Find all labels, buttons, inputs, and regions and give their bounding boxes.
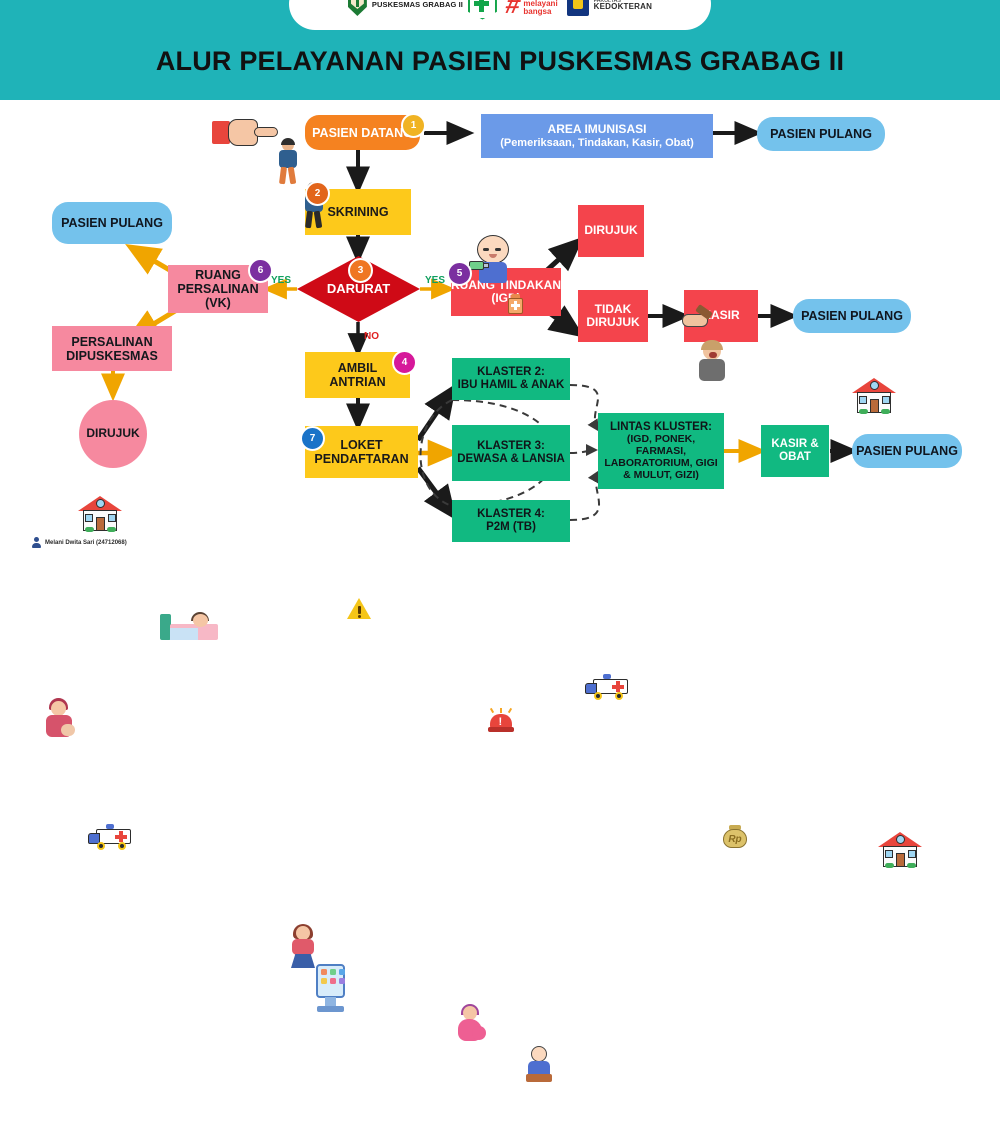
- node-pasien-pulang-akhir[interactable]: PASIEN PULANG: [852, 434, 962, 468]
- bangga-logo-text: bangga melayani bangsa: [523, 0, 557, 17]
- user-icon: [32, 537, 41, 548]
- node-tidak-dirujuk[interactable]: TIDAK DIRUJUK: [578, 290, 648, 342]
- node-persalinan-dipuskesmas-sublabel: DIPUSKESMAS: [66, 349, 158, 363]
- author-credit: Melani Dwita Sari (24712068): [32, 537, 127, 548]
- node-area-imunisasi-label: AREA IMUNISASI: [548, 123, 647, 136]
- child-highchair-icon: [524, 1046, 554, 1084]
- node-dirujuk-igd-label: DIRUJUK: [584, 224, 637, 237]
- node-ruang-tindakan-sublabel: (IGD): [491, 292, 520, 305]
- delivery-bed-icon: [160, 612, 218, 642]
- node-klaster-3-label: KLASTER 3:: [477, 440, 545, 453]
- node-pasien-pulang-kasir[interactable]: PASIEN PULANG: [793, 299, 911, 333]
- emergency-siren-icon: !: [488, 708, 514, 734]
- pregnant-woman-icon: [452, 1006, 488, 1046]
- poster-root: PUSKESMAS GRABAG II # bangga melayani ba…: [0, 0, 1000, 573]
- node-persalinan-dipuskesmas-label: PERSALINAN: [71, 335, 152, 349]
- node-pasien-datang-label: PASIEN DATANG: [312, 126, 413, 140]
- coat-of-arms-icon: [348, 0, 367, 16]
- node-klaster-4[interactable]: KLASTER 4: P2M (TB): [452, 500, 570, 542]
- node-tidak-dirujuk-label: TIDAK: [595, 303, 632, 316]
- node-klaster-2-sublabel: IBU HAMIL & ANAK: [458, 379, 565, 392]
- node-kasir[interactable]: KASIR: [684, 290, 758, 342]
- node-klaster-2-label: KLASTER 2:: [477, 366, 545, 379]
- ambulance-icon-1: [88, 826, 132, 852]
- step-badge-5: 5: [447, 261, 472, 286]
- node-darurat-label: DARURAT: [327, 282, 390, 297]
- node-klaster-4-sublabel: P2M (TB): [486, 521, 536, 534]
- money-bag-icon-1: Rp: [722, 823, 748, 849]
- node-ambil-antrian-label: AMBIL: [338, 361, 378, 375]
- university-crest-icon: [567, 0, 589, 16]
- node-area-imunisasi-sublabel: (Pemeriksaan, Tindakan, Kasir, Obat): [500, 137, 694, 149]
- node-pasien-pulang-vk[interactable]: PASIEN PULANG: [52, 202, 172, 244]
- bangga-melayani-bangsa-logo: # bangga melayani bangsa: [506, 0, 558, 17]
- green-cross-hex-icon: [468, 0, 497, 20]
- fakultas-big-label: KEDOKTERAN: [594, 2, 652, 11]
- node-lintas-kluster-label: LINTAS KLUSTER:: [610, 421, 712, 434]
- node-pasien-pulang-imunisasi[interactable]: PASIEN PULANG: [757, 117, 885, 151]
- node-pasien-pulang-akhir-label: PASIEN PULANG: [856, 444, 958, 458]
- node-pasien-pulang-vk-label: PASIEN PULANG: [61, 216, 163, 230]
- woman-at-kiosk-icon: [288, 926, 318, 970]
- node-klaster-3-sublabel: DEWASA & LANSIA: [457, 453, 565, 466]
- edge-label-yes-right: YES: [425, 275, 445, 286]
- puskesmas-logo-group: PUSKESMAS GRABAG II: [348, 0, 497, 20]
- author-credit-label: Melani Dwita Sari (24712068): [45, 540, 127, 546]
- node-ruang-persalinan-sublabel: PERSALINAN (VK): [168, 282, 268, 310]
- node-lintas-kluster-sublabel: (IGD, PONEK, FARMASI, LABORATORIUM, GIGI…: [602, 433, 720, 481]
- house-icon-3: [878, 832, 922, 868]
- node-dirujuk-igd[interactable]: DIRUJUK: [578, 205, 644, 257]
- node-loket-pendaftaran-label: LOKET: [340, 438, 382, 452]
- node-skrining-label: SKRINING: [327, 205, 388, 219]
- node-dirujuk-vk-label: DIRUJUK: [86, 427, 139, 440]
- flowchart-canvas: PASIEN DATANG 1 AREA IMUNISASI (Pemeriks…: [0, 100, 1000, 573]
- node-klaster-3[interactable]: KLASTER 3: DEWASA & LANSIA: [452, 425, 570, 481]
- bangga-line-3: bangsa: [523, 8, 557, 17]
- step-badge-2: 2: [305, 181, 330, 206]
- node-kasir-obat-sublabel: OBAT: [779, 451, 811, 464]
- node-area-imunisasi[interactable]: AREA IMUNISASI (Pemeriksaan, Tindakan, K…: [481, 114, 713, 158]
- node-persalinan-dipuskesmas[interactable]: PERSALINAN DIPUSKESMAS: [52, 326, 172, 371]
- node-loket-pendaftaran-sublabel: PENDAFTARAN: [314, 452, 408, 466]
- mother-with-baby-icon: [42, 700, 76, 744]
- ambulance-icon-2: [585, 676, 629, 702]
- queue-kiosk-icon: [314, 964, 348, 1012]
- fakultas-kedokteran-logo-group: FAKULTAS KEDOKTERAN: [567, 0, 652, 16]
- puskesmas-logo-label: PUSKESMAS GRABAG II: [372, 0, 463, 9]
- node-klaster-2[interactable]: KLASTER 2: IBU HAMIL & ANAK: [452, 358, 570, 400]
- poster-header: PUSKESMAS GRABAG II # bangga melayani ba…: [0, 0, 1000, 100]
- node-kasir-obat[interactable]: KASIR & OBAT: [761, 425, 829, 477]
- node-kasir-obat-label: KASIR &: [771, 438, 818, 451]
- node-pasien-pulang-kasir-label: PASIEN PULANG: [801, 309, 903, 323]
- node-kasir-label: KASIR: [702, 309, 739, 322]
- warning-triangle-icon: [347, 598, 371, 620]
- hash-icon: #: [503, 0, 523, 17]
- node-dirujuk-vk[interactable]: DIRUJUK: [79, 400, 147, 468]
- page-title: ALUR PELAYANAN PASIEN PUSKESMAS GRABAG I…: [0, 46, 1000, 77]
- node-klaster-4-label: KLASTER 4:: [477, 508, 545, 521]
- logo-bar: PUSKESMAS GRABAG II # bangga melayani ba…: [289, 0, 711, 30]
- step-badge-4: 4: [392, 350, 417, 375]
- fakultas-logo-text: FAKULTAS KEDOKTERAN: [594, 0, 652, 11]
- step-badge-3: 3: [348, 258, 373, 283]
- node-lintas-kluster[interactable]: LINTAS KLUSTER: (IGD, PONEK, FARMASI, LA…: [598, 413, 724, 489]
- step-badge-7: 7: [300, 426, 325, 451]
- node-pasien-pulang-imunisasi-label: PASIEN PULANG: [770, 127, 872, 141]
- edge-label-yes-left: YES: [271, 275, 291, 286]
- step-badge-6: 6: [248, 258, 273, 283]
- edge-label-no: NO: [364, 331, 379, 342]
- node-ambil-antrian-sublabel: ANTRIAN: [329, 375, 385, 389]
- node-tidak-dirujuk-sublabel: DIRUJUK: [586, 316, 639, 329]
- step-badge-1: 1: [401, 113, 426, 138]
- node-ruang-persalinan-label: RUANG: [195, 268, 241, 282]
